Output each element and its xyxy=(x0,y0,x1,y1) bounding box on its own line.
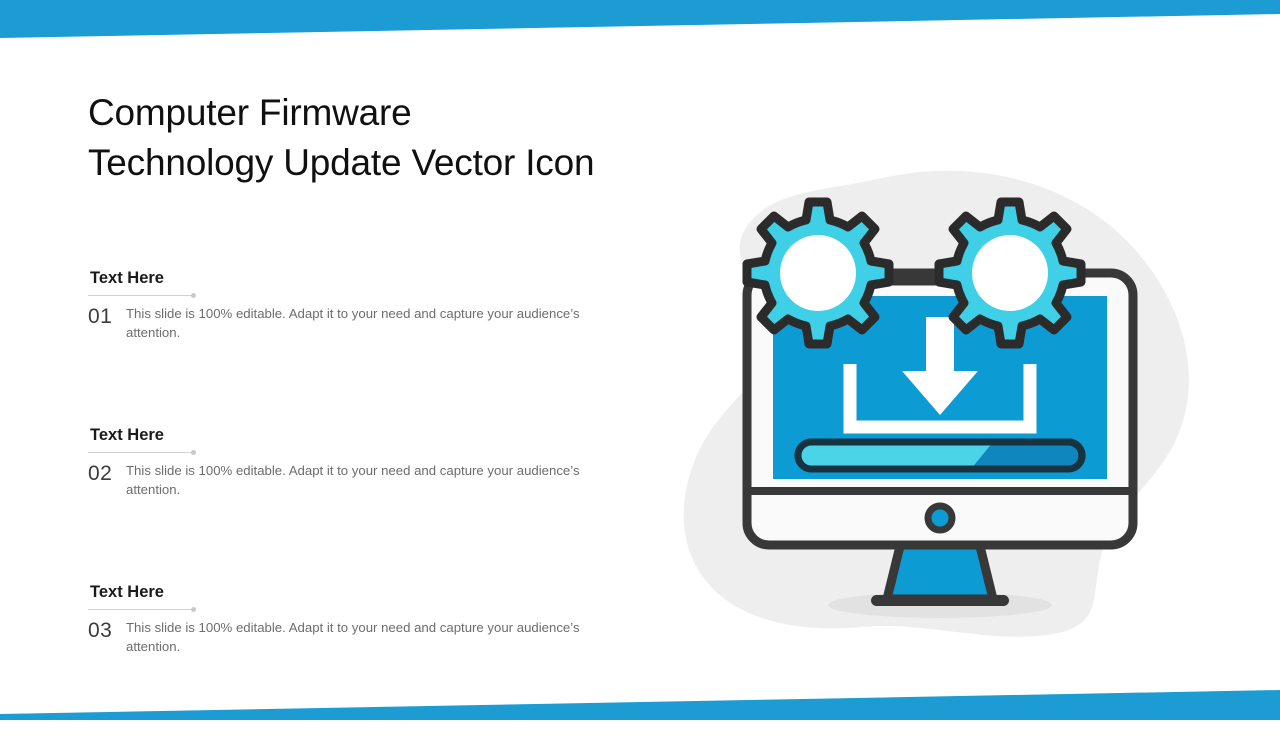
page-title-line-2: Technology Update Vector Icon xyxy=(88,138,728,188)
gear-left-icon xyxy=(747,202,889,344)
list-item[interactable]: Text Here 03 This slide is 100% editable… xyxy=(88,582,608,739)
monitor-power-dot xyxy=(928,506,952,530)
list-item-number: 01 xyxy=(88,305,126,328)
list-item-divider xyxy=(88,609,192,610)
list-item-body: 02 This slide is 100% editable. Adapt it… xyxy=(88,462,608,499)
list-item-body: 03 This slide is 100% editable. Adapt it… xyxy=(88,619,608,656)
list-item-heading: Text Here xyxy=(90,425,608,445)
list-item-text: This slide is 100% editable. Adapt it to… xyxy=(126,619,596,656)
page-title: Computer Firmware Technology Update Vect… xyxy=(88,88,728,188)
list-item-text: This slide is 100% editable. Adapt it to… xyxy=(126,462,596,499)
page-title-line-1: Computer Firmware xyxy=(88,88,728,138)
progress-bar xyxy=(798,442,1082,469)
list-item-body: 01 This slide is 100% editable. Adapt it… xyxy=(88,305,608,342)
list-item-heading: Text Here xyxy=(90,582,608,602)
progress-bar-fill xyxy=(798,442,993,469)
top-banner-decoration xyxy=(0,0,1280,46)
list-item-divider xyxy=(88,295,192,296)
computer-firmware-update-icon xyxy=(655,165,1225,645)
slide-root: Computer Firmware Technology Update Vect… xyxy=(0,0,1280,720)
gear-right-icon xyxy=(939,202,1081,344)
list-item-number: 02 xyxy=(88,462,126,485)
list-item-text: This slide is 100% editable. Adapt it to… xyxy=(126,305,596,342)
list-item-heading: Text Here xyxy=(90,268,608,288)
content-item-list: Text Here 01 This slide is 100% editable… xyxy=(88,268,608,739)
list-item-number: 03 xyxy=(88,619,126,642)
list-item[interactable]: Text Here 02 This slide is 100% editable… xyxy=(88,425,608,582)
list-item[interactable]: Text Here 01 This slide is 100% editable… xyxy=(88,268,608,425)
list-item-divider xyxy=(88,452,192,453)
monitor-stand-base xyxy=(871,595,1009,606)
